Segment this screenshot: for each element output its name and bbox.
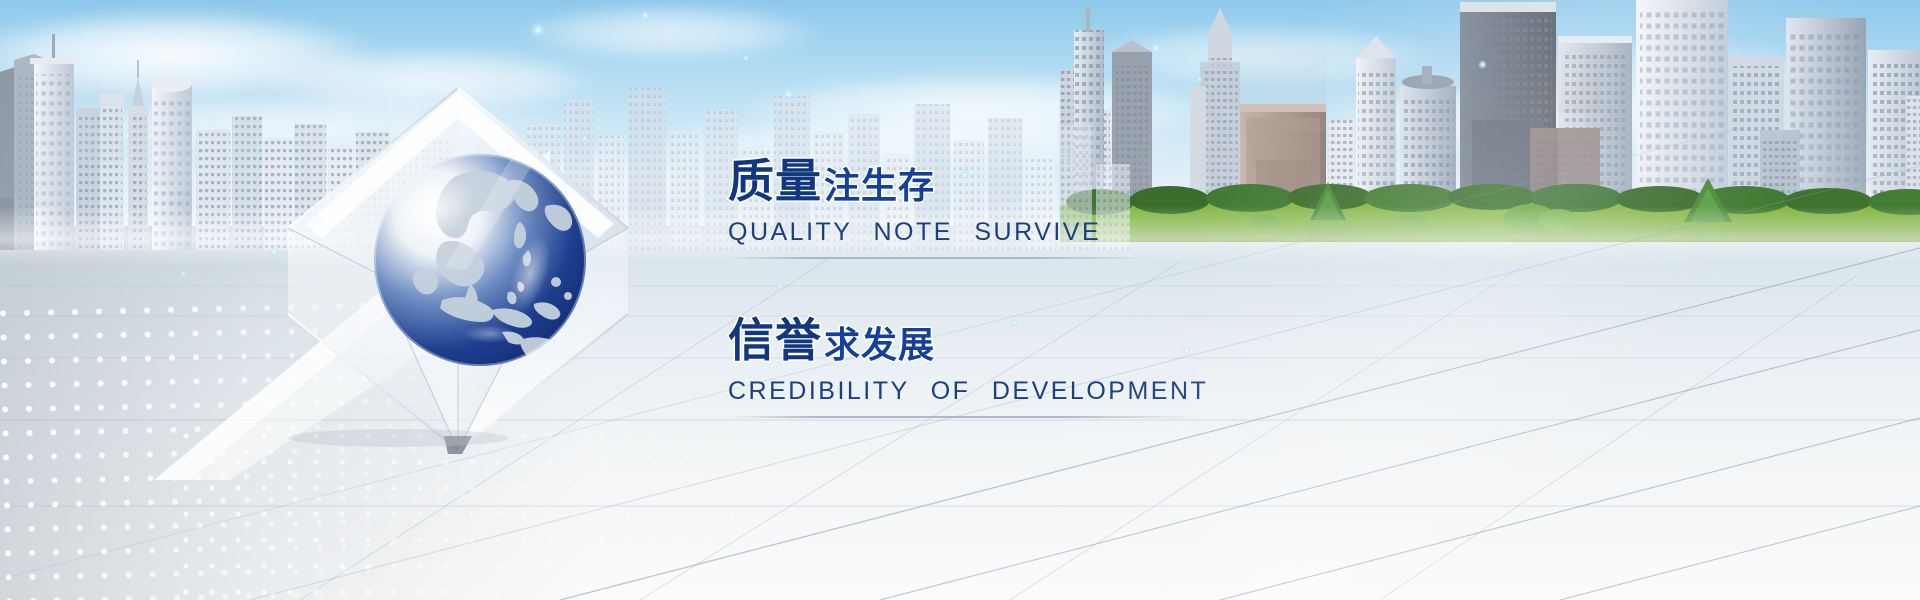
hero-banner: 质量 注生存 QUALITY NOTE SURVIVE 信誉 求发展 CREDI… <box>0 0 1920 600</box>
slogan-two: 信誉 求发展 CREDIBILITY OF DEVELOPMENT <box>728 317 1428 418</box>
slogan-one-divider <box>728 257 1148 259</box>
slogan-block: 质量 注生存 QUALITY NOTE SURVIVE 信誉 求发展 CREDI… <box>728 158 1428 418</box>
slogan-two-divider <box>728 416 1198 418</box>
slogan-two-chinese-light: 求发展 <box>824 327 935 363</box>
slogan-two-chinese: 信誉 求发展 <box>728 317 1428 363</box>
slogan-two-chinese-bold: 信誉 <box>728 317 822 363</box>
slogan-one-chinese-light: 注生存 <box>824 168 935 204</box>
slogan-one-english: QUALITY NOTE SURVIVE <box>728 218 1428 247</box>
slogan-one-chinese-bold: 质量 <box>728 158 822 204</box>
slogan-one: 质量 注生存 QUALITY NOTE SURVIVE <box>728 158 1428 259</box>
blue-earth-globe <box>370 150 590 370</box>
slogan-two-english: CREDIBILITY OF DEVELOPMENT <box>728 377 1428 406</box>
slogan-one-chinese: 质量 注生存 <box>728 158 1428 204</box>
